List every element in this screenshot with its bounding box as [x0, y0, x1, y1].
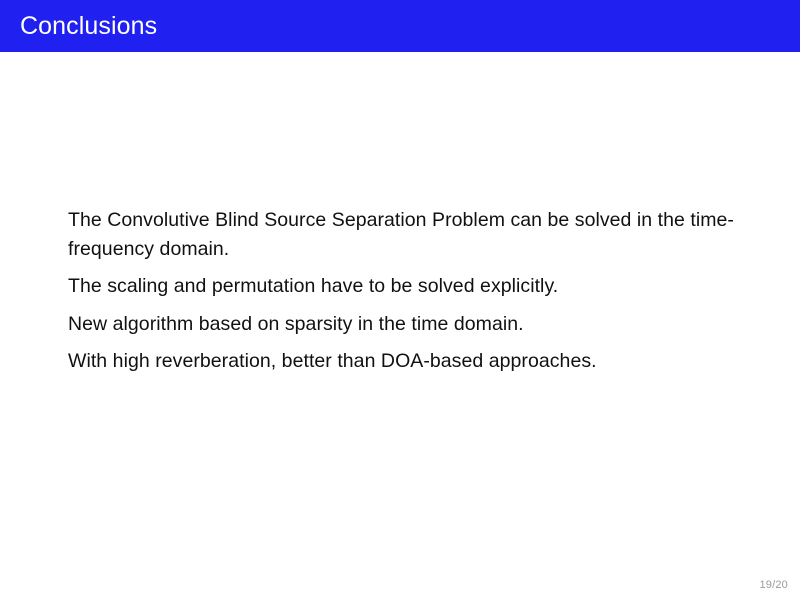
content-item: New algorithm based on sparsity in the t…: [68, 310, 760, 339]
content-item: The Convolutive Blind Source Separation …: [68, 206, 762, 263]
content-item: With high reverberation, better than DOA…: [68, 347, 760, 376]
slide-content-body: The Convolutive Blind Source Separation …: [68, 206, 768, 376]
page-title: Conclusions: [20, 14, 157, 39]
page-number: 19/20: [759, 578, 788, 592]
presentation-slide: Conclusions The Convolutive Blind Source…: [0, 0, 800, 600]
slide-title-bar: Conclusions: [0, 0, 800, 52]
content-item: The scaling and permutation have to be s…: [68, 272, 760, 301]
